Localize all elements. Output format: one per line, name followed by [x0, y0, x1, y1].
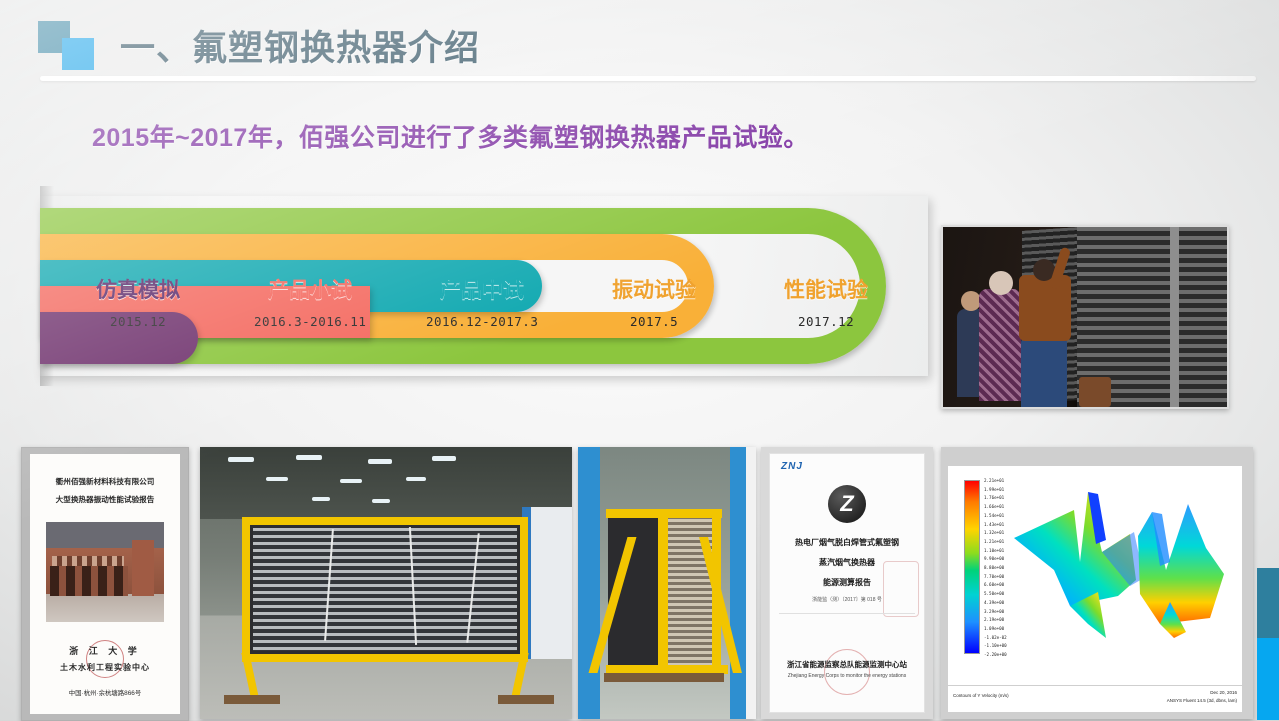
vertical-frame-post-left [658, 509, 668, 673]
report2-round-stamp [824, 649, 870, 695]
ceiling-light [266, 477, 288, 481]
photo-factory-person-2-head [989, 271, 1013, 295]
cfd-tick-label: 3.29e+00 [984, 609, 1004, 614]
report1-org-name: 浙 江 大 学 [30, 644, 180, 657]
report2-org-en: Zhejiang Energy Corps to monitor the ene… [769, 673, 925, 679]
rig-door [522, 507, 572, 659]
cfd-tick-label: 9.90e+00 [984, 556, 1004, 561]
report1-building-photo [46, 522, 164, 622]
report1-org-dept: 土木水利工程实验中心 [30, 662, 180, 673]
report2-code: 浙能监（测）〔2017〕第 018 号 [769, 596, 925, 603]
rig-base-left [224, 695, 280, 704]
photo-factory-person-3-torso [1019, 275, 1071, 341]
accent-square-top [1257, 568, 1279, 638]
cfd-tick-label: 7.70e+00 [984, 574, 1004, 579]
photo-factory-person-3-legs [1021, 335, 1067, 407]
cfd-colorbar [964, 480, 980, 654]
cfd-date: Dec 20, 2016 [1167, 689, 1237, 697]
report2-seal-logo: Z [828, 485, 866, 523]
timeline-stage-date-5: 2017.12 [798, 314, 854, 329]
cfd-tick-label: -1.02e-02 [984, 635, 1007, 640]
report1-building-arches [50, 566, 128, 596]
rig-base-right [498, 695, 554, 704]
timeline-stage-label-1: 仿真模拟 [96, 274, 180, 304]
ceiling-light [228, 457, 254, 462]
report1-address: 中国·杭州·余杭塘路866号 [30, 688, 180, 697]
cfd-tick-label: 8.80e+00 [984, 565, 1004, 570]
rig-yellow-frame [242, 517, 528, 662]
cfd-caption: Contours of Y Velocity (m/s) [953, 693, 1009, 698]
cfd-tick-label: 1.43e+01 [984, 522, 1004, 527]
photo-factory-heat-exchanger [941, 225, 1229, 409]
report2-divider [779, 613, 915, 614]
report2-title-line-1: 热电厂烟气脱白焊管式氟塑钢 [769, 537, 925, 548]
cfd-tick-label: 6.60e+00 [984, 582, 1004, 587]
slide-canvas: 一、氟塑钢换热器介绍 2015年~2017年，佰强公司进行了多类氟塑钢换热器产品… [0, 0, 1279, 720]
timeline-stage-date-2: 2016.3-2016.11 [254, 314, 366, 329]
vertical-wall-right [746, 447, 756, 719]
photo-energy-measurement-report-cover: ZNJ Z 热电厂烟气脱白焊管式氟塑钢 蒸汽烟气换热器 能源测算报告 浙能监（测… [761, 447, 933, 719]
photo-vertical-exchanger-test [578, 447, 756, 719]
report2-page: ZNJ Z 热电厂烟气脱白焊管式氟塑钢 蒸汽烟气换热器 能源测算报告 浙能监（测… [769, 453, 925, 713]
report1-company-line: 衢州佰强新材料科技有限公司 [30, 476, 180, 487]
subtitle-text: 2015年~2017年，佰强公司进行了多类氟塑钢换热器产品试验。 [92, 118, 809, 154]
cfd-tick-label: -2.20e+00 [984, 652, 1007, 657]
cfd-tick-label: -1.10e+00 [984, 643, 1007, 648]
report1-page: 衢州佰强新材料科技有限公司 大型换热器振动性能试验报告 浙 江 大 学 土木水利… [30, 454, 180, 714]
header-divider [40, 76, 1256, 81]
cfd-tick-label: 1.10e+01 [984, 548, 1004, 553]
timeline-stage-date-4: 2017.5 [630, 314, 678, 329]
ceiling-light [406, 477, 426, 481]
accent-square-bottom [1257, 638, 1279, 720]
rig-ceiling [200, 447, 572, 519]
timeline-stage-label-3: 产品中试 [440, 274, 524, 304]
timeline-stage-label-2: 产品小试 [268, 274, 352, 304]
photo-cfd-contour-plot: 2.21e+011.99e+011.76e+011.66e+011.54e+01… [941, 447, 1253, 719]
vertical-blue-pillar-left [578, 447, 600, 719]
photo-vibration-test-report-cover: 衢州佰强新材料科技有限公司 大型换热器振动性能试验报告 浙 江 大 学 土木水利… [21, 447, 189, 721]
timeline-diagram: 仿真模拟2015.12产品小试2016.3-2016.11产品中试2016.12… [40, 196, 928, 376]
ceiling-light [296, 455, 322, 460]
cfd-solver: ANSYS Fluent 14.5 (3d, dbns, lam) [1167, 697, 1237, 705]
ceiling-light [368, 459, 392, 464]
report1-building-tower [132, 540, 154, 596]
cfd-tick-label: 1.76e+01 [984, 495, 1004, 500]
cfd-tick-label: 1.54e+01 [984, 513, 1004, 518]
header-square-light [62, 38, 94, 70]
cfd-tick-label: 1.09e+00 [984, 626, 1004, 631]
report2-title-line-3: 能源测算报告 [769, 577, 925, 588]
photo-factory-post [1170, 227, 1179, 407]
report2-org-cn: 浙江省能源监察总队能源监测中心站 [769, 659, 925, 670]
cfd-tick-label: 4.39e+00 [984, 600, 1004, 605]
cfd-tick-label: 1.99e+01 [984, 487, 1004, 492]
cfd-tick-label: 1.66e+01 [984, 504, 1004, 509]
timeline-stage-label-5: 性能试验 [784, 274, 868, 304]
photo-factory-person-2 [979, 289, 1021, 401]
ceiling-light [340, 479, 362, 483]
report2-brand-logo: ZNJ [781, 461, 803, 472]
vertical-base-plate [604, 673, 724, 682]
cfd-tick-label: 1.32e+01 [984, 530, 1004, 535]
cfd-tick-label: 2.21e+01 [984, 478, 1004, 483]
photo-factory-person-1-head [961, 291, 981, 311]
ceiling-light [372, 499, 390, 503]
photo-factory-drum [1079, 377, 1111, 407]
cfd-tick-label: 2.19e+00 [984, 617, 1004, 622]
ceiling-light [312, 497, 330, 501]
timeline-stage-label-4: 振动试验 [612, 274, 696, 304]
cfd-footer: Contours of Y Velocity (m/s) Dec 20, 201… [947, 685, 1243, 713]
timeline-stage-date-1: 2015.12 [110, 314, 166, 329]
report2-title-line-2: 蒸汽烟气换热器 [769, 557, 925, 568]
ceiling-light [432, 456, 456, 461]
timeline-stage-date-3: 2016.12-2017.3 [426, 314, 538, 329]
cfd-meta: Dec 20, 2016 ANSYS Fluent 14.5 (3d, dbns… [1167, 689, 1237, 705]
report1-title-line: 大型换热器振动性能试验报告 [30, 494, 180, 505]
photo-large-vibration-test-rig [200, 447, 572, 719]
cfd-tick-label: 1.21e+01 [984, 539, 1004, 544]
page-title: 一、氟塑钢换热器介绍 [120, 20, 480, 71]
cfd-tick-label: 5.50e+00 [984, 591, 1004, 596]
report2-side-stamp [883, 561, 919, 617]
cfd-plot-page: 2.21e+011.99e+011.76e+011.66e+011.54e+01… [947, 465, 1243, 687]
cfd-velocity-surfaces [1010, 474, 1250, 674]
